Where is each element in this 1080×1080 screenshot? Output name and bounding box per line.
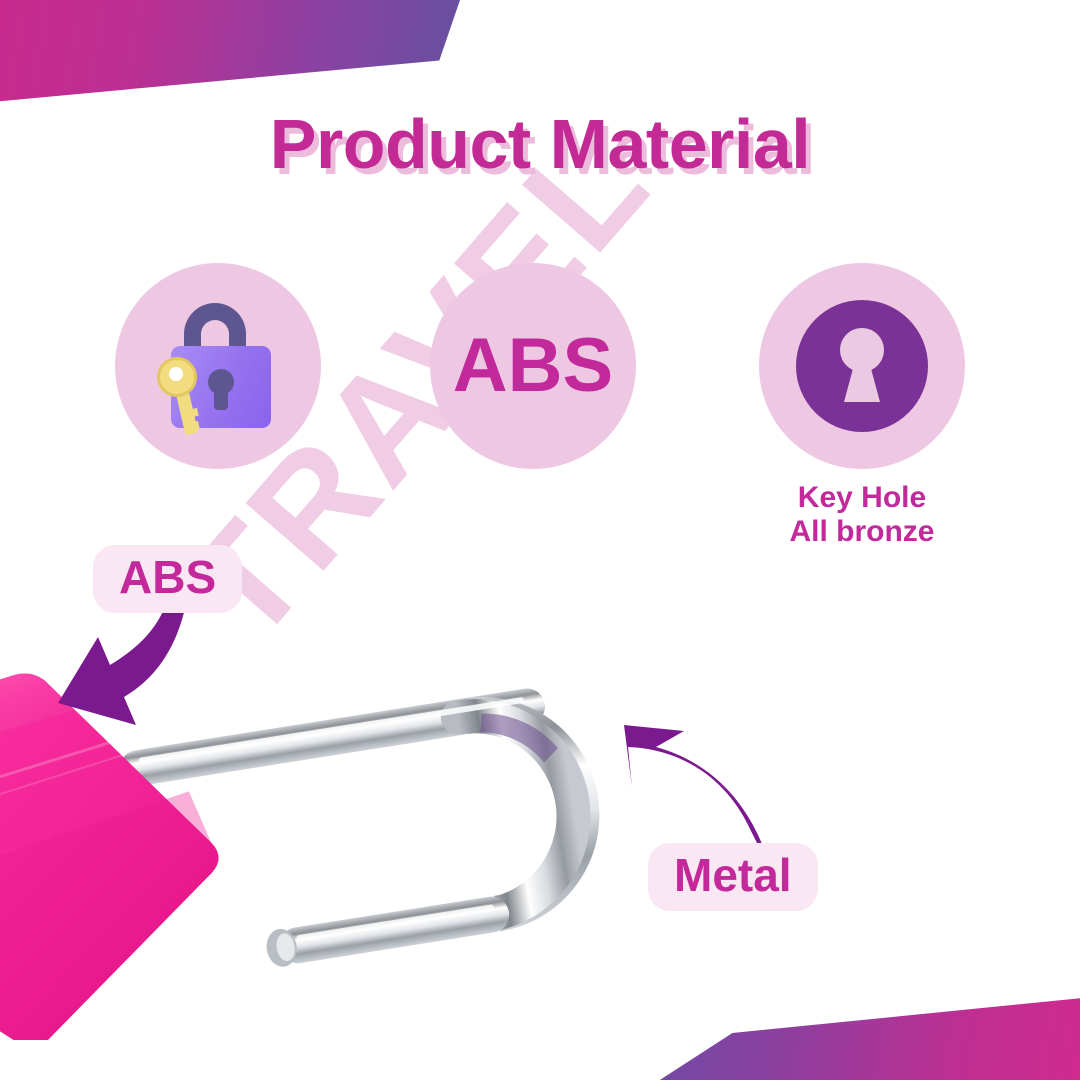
feature-caption-keyhole: Key HoleAll bronze (759, 481, 965, 548)
top-left-gradient-banner (0, 0, 460, 110)
feature-circle (115, 263, 321, 469)
feature-item-lock (115, 263, 321, 469)
feature-circle: ABS (430, 263, 636, 469)
infographic-canvas: TRAVEL Product Material (0, 0, 1080, 1080)
callout-label-abs: ABS (93, 545, 242, 613)
feature-circle (759, 263, 965, 469)
page-title: Product Material (0, 104, 1080, 184)
feature-label-abs: ABS (453, 328, 613, 404)
feature-item-abs: ABS (430, 263, 636, 469)
keyhole-icon (796, 300, 928, 432)
padlock-body (0, 648, 244, 1040)
feature-item-keyhole: Key HoleAll bronze (759, 263, 965, 548)
lock-with-key-icon (143, 291, 293, 441)
callout-label-metal: Metal (648, 843, 818, 911)
